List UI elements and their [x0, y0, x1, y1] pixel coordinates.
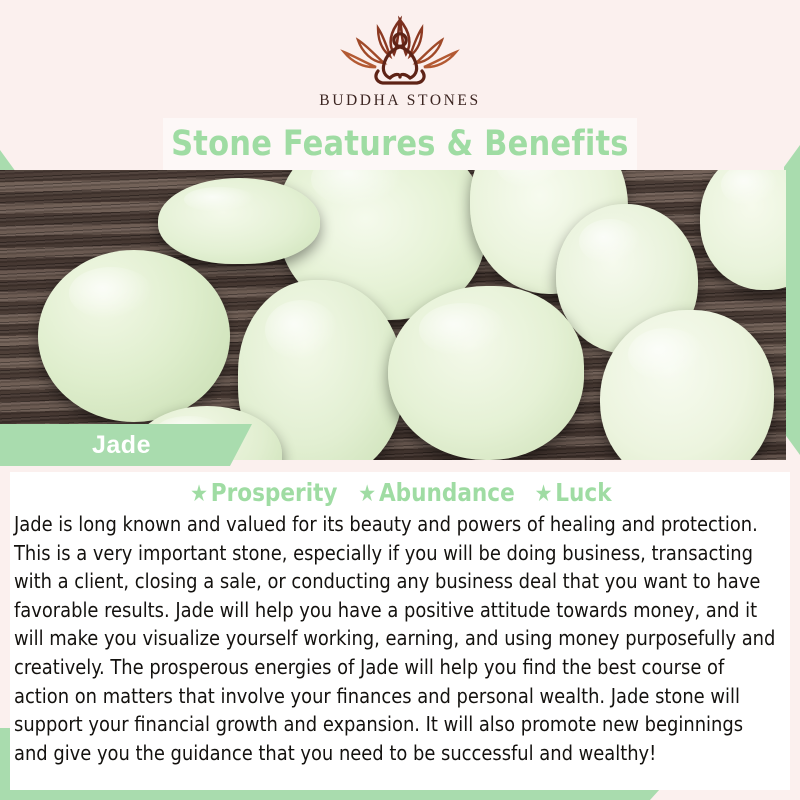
decorative-bar-right [784, 145, 800, 455]
benefit-item-abundance: ★Abundance [358, 478, 514, 507]
brand-name: BUDDHA STONES [0, 92, 800, 110]
star-icon: ★ [358, 481, 376, 507]
benefit-label: Prosperity [211, 478, 338, 507]
content-area: ★Prosperity ★Abundance ★Luck Jade is lon… [0, 460, 800, 800]
benefits-row: ★Prosperity ★Abundance ★Luck [0, 478, 800, 507]
benefit-label: Luck [555, 478, 611, 507]
star-icon: ★ [190, 481, 208, 507]
lotus-meditation-icon [330, 14, 470, 88]
jade-stone [158, 178, 320, 264]
header-banner: Stone Features & Benefits [163, 118, 637, 170]
stone-name-label: Jade [92, 431, 151, 460]
stone-photo [0, 170, 786, 460]
star-icon: ★ [534, 481, 552, 507]
stone-info-card: BUDDHA STONES Stone Features & Benefits … [0, 0, 800, 800]
jade-stone [388, 286, 584, 460]
page-title: Stone Features & Benefits [171, 124, 629, 164]
stone-name-badge: Jade [0, 424, 252, 466]
benefit-item-prosperity: ★Prosperity [190, 478, 337, 507]
brand-logo: BUDDHA STONES [0, 14, 800, 110]
jade-stone [38, 250, 230, 422]
benefit-label: Abundance [379, 478, 515, 507]
stone-description: Jade is long known and valued for its be… [14, 510, 780, 767]
benefit-item-luck: ★Luck [534, 478, 611, 507]
